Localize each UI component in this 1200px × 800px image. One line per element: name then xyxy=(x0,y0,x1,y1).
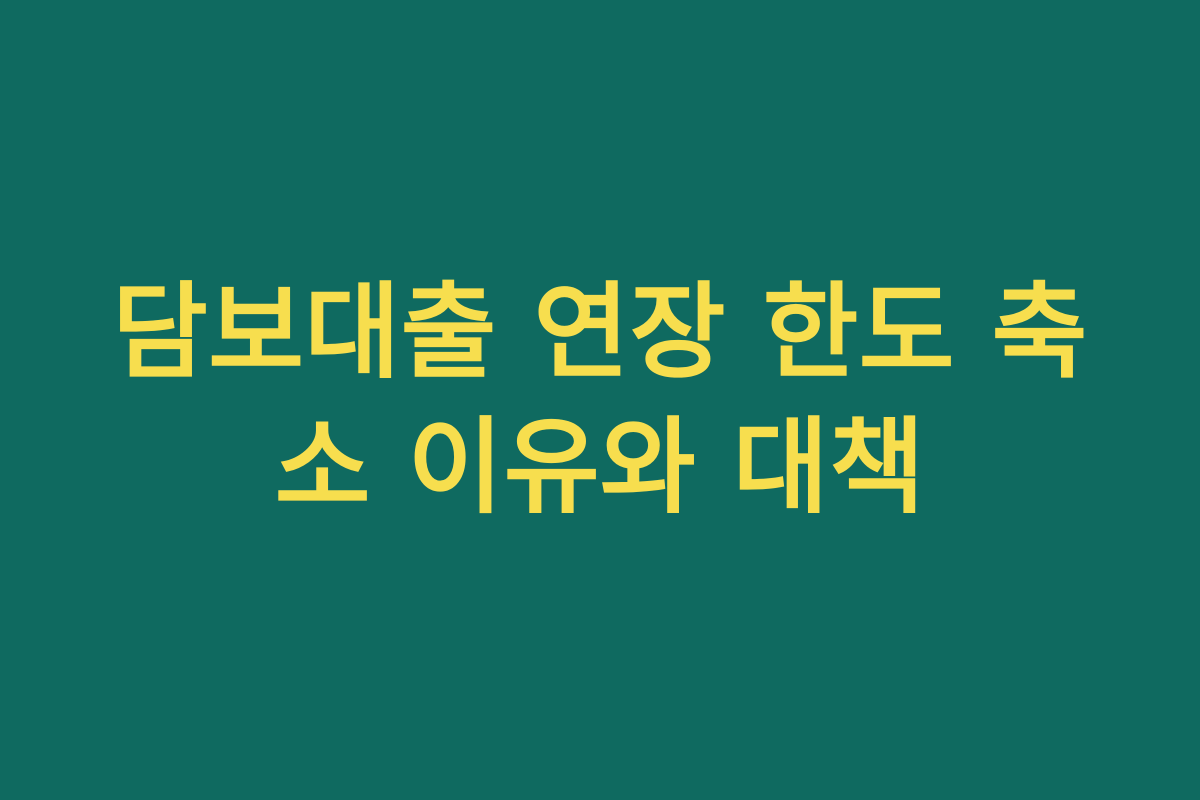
page-title: 담보대출 연장 한도 축 소 이유와 대책 xyxy=(0,265,1200,535)
headline-line-2: 소 이유와 대책 xyxy=(60,400,1140,535)
banner-canvas: 담보대출 연장 한도 축 소 이유와 대책 xyxy=(0,0,1200,800)
headline-line-1: 담보대출 연장 한도 축 xyxy=(60,265,1140,400)
